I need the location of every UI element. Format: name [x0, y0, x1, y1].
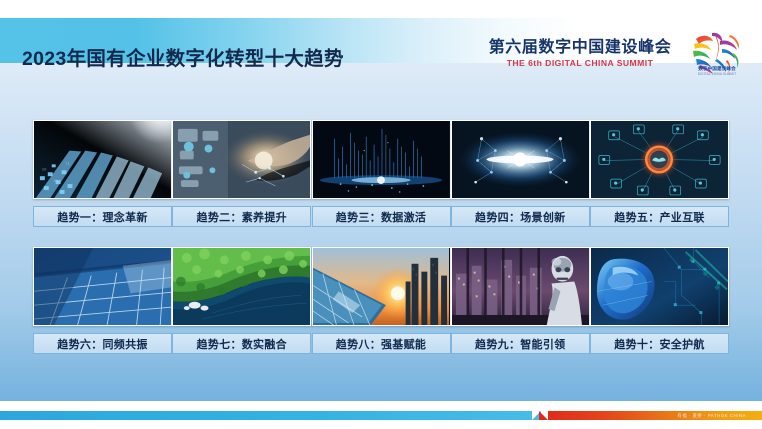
data-stream-particles-image: [312, 120, 451, 199]
page-title: 2023年国有企业数字化转型十大趋势: [22, 42, 344, 71]
trend-card-9[interactable]: 趋势九：智能引领: [451, 247, 590, 354]
footer-bar-left: [0, 411, 532, 420]
trend-card-1-label: 趋势一：理念革新: [33, 206, 172, 227]
trend-card-3-label: 趋势三：数据激活: [312, 206, 451, 227]
svg-text:01: 01: [54, 178, 58, 183]
trend-card-10-label: 趋势十：安全护航: [590, 333, 729, 354]
trend-card-3[interactable]: 趋势三：数据激活: [312, 120, 451, 227]
trend-card-2[interactable]: 趋势二：素养提升: [172, 120, 311, 227]
trend-card-7[interactable]: 趋势七：数实融合: [172, 247, 311, 354]
trend-card-4[interactable]: 趋势四：场景创新: [451, 120, 590, 227]
trend-row-1: 100111 趋势一：理念革新: [33, 120, 729, 227]
trend-card-4-label: 趋势四：场景创新: [451, 206, 590, 227]
control-panel-hand-image: [172, 120, 311, 199]
trend-card-8-label: 趋势八：强基赋能: [312, 333, 451, 354]
trend-card-9-label: 趋势九：智能引领: [451, 333, 590, 354]
solar-panel-sunset-image: [312, 247, 451, 326]
slide-header: 2023年国有企业数字化转型十大趋势 第六届数字中国建设峰会 THE 6th D…: [0, 18, 762, 63]
solar-panel-array-image: [33, 247, 172, 326]
trend-card-6[interactable]: 趋势六：同频共振: [33, 247, 172, 354]
summit-title-en: THE 6th DIGITAL CHINA SUMMIT: [482, 58, 678, 69]
industrial-internet-hub-image: [590, 120, 729, 199]
slide-footer: 有福 · 爱拼 · PATHOK CHINA: [0, 401, 762, 429]
trend-card-6-label: 趋势六：同频共振: [33, 333, 172, 354]
logo-caption-cn: 数字中国建设峰会: [686, 66, 748, 71]
trend-card-10[interactable]: 趋势十：安全护航: [590, 247, 729, 354]
digital-keyboard-image: 100111: [33, 120, 172, 199]
forest-river-aerial-image: [172, 247, 311, 326]
humanoid-robot-city-image: [451, 247, 590, 326]
trend-card-1[interactable]: 100111 趋势一：理念革新: [33, 120, 172, 227]
footer-tagline: 有福 · 爱拼 · PATHOK CHINA: [548, 411, 754, 420]
network-light-burst-image: [451, 120, 590, 199]
svg-text:11: 11: [66, 160, 70, 165]
summit-branding: 第六届数字中国建设峰会 THE 6th DIGITAL CHINA SUMMIT: [482, 38, 678, 69]
trend-card-5-label: 趋势五：产业互联: [590, 206, 729, 227]
cyber-security-shield-image: [590, 247, 729, 326]
top-white-margin: [0, 0, 762, 18]
logo-caption-en: DIGITAL CHINA SUMMIT: [686, 72, 748, 76]
trend-row-2: 趋势六：同频共振: [33, 247, 729, 354]
trend-card-5[interactable]: 趋势五：产业互联: [590, 120, 729, 227]
trend-card-2-label: 趋势二：素养提升: [172, 206, 311, 227]
trend-card-7-label: 趋势七：数实融合: [172, 333, 311, 354]
summit-title-cn: 第六届数字中国建设峰会: [482, 38, 678, 57]
trend-card-grid: 100111 趋势一：理念革新: [33, 120, 729, 354]
trend-card-8[interactable]: 趋势八：强基赋能: [312, 247, 451, 354]
slide-root: 2023年国有企业数字化转型十大趋势 第六届数字中国建设峰会 THE 6th D…: [0, 0, 762, 429]
